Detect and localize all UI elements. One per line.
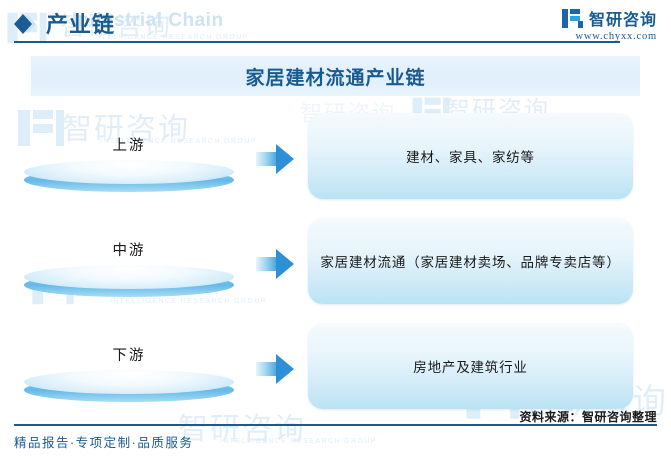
page-header: Industrial Chain 产业链 智研咨询 www.chyxx.com — [0, 0, 671, 44]
chain-content-box: 建材、家具、家纺等 — [308, 113, 633, 199]
arrow-right-icon — [256, 144, 296, 174]
chain-content-text: 建材、家具、家纺等 — [396, 146, 545, 166]
stage-label: 上游 — [24, 134, 234, 155]
stage-midstream: 中游 — [24, 221, 234, 299]
chain-row: 上游 建材、家具、家纺等 — [0, 110, 671, 215]
brand-name: 智研咨询 — [589, 6, 657, 30]
stage-upstream: 上游 — [24, 116, 234, 194]
chain-content-text: 房地产及建筑行业 — [403, 356, 537, 376]
stage-downstream: 下游 — [24, 326, 234, 404]
header-divider — [14, 41, 620, 43]
footer-divider — [14, 424, 657, 426]
brand-url: www.chyxx.com — [562, 31, 657, 42]
stage-disc — [24, 265, 234, 297]
stage-label: 下游 — [24, 344, 234, 365]
footer-slogan: 精品报告·专项定制·品质服务 — [14, 432, 193, 451]
stage-disc — [24, 160, 234, 192]
diamond-icon — [14, 13, 36, 35]
chain-content-box: 房地产及建筑行业 — [308, 323, 633, 409]
chain-row: 中游 家居建材流通（家居建材卖场、品牌专卖店等） — [0, 215, 671, 320]
chart-title-bar: 家居建材流通产业链 — [31, 56, 640, 96]
source-note: 资料来源：智研咨询整理 — [519, 408, 657, 425]
arrow-right-icon — [256, 354, 296, 384]
brand-logo: 智研咨询 www.chyxx.com — [562, 6, 657, 42]
chain-content-text: 家居建材流通（家居建材卖场、品牌专卖店等） — [310, 251, 630, 271]
stage-disc — [24, 370, 234, 402]
chyxx-logo-icon — [562, 9, 583, 28]
arrow-right-icon — [256, 249, 296, 279]
chain-content-box: 家居建材流通（家居建材卖场、品牌专卖店等） — [308, 218, 633, 304]
chart-title: 家居建材流通产业链 — [245, 63, 425, 90]
page-title: 产业链 — [46, 7, 115, 39]
stage-label: 中游 — [24, 239, 234, 260]
